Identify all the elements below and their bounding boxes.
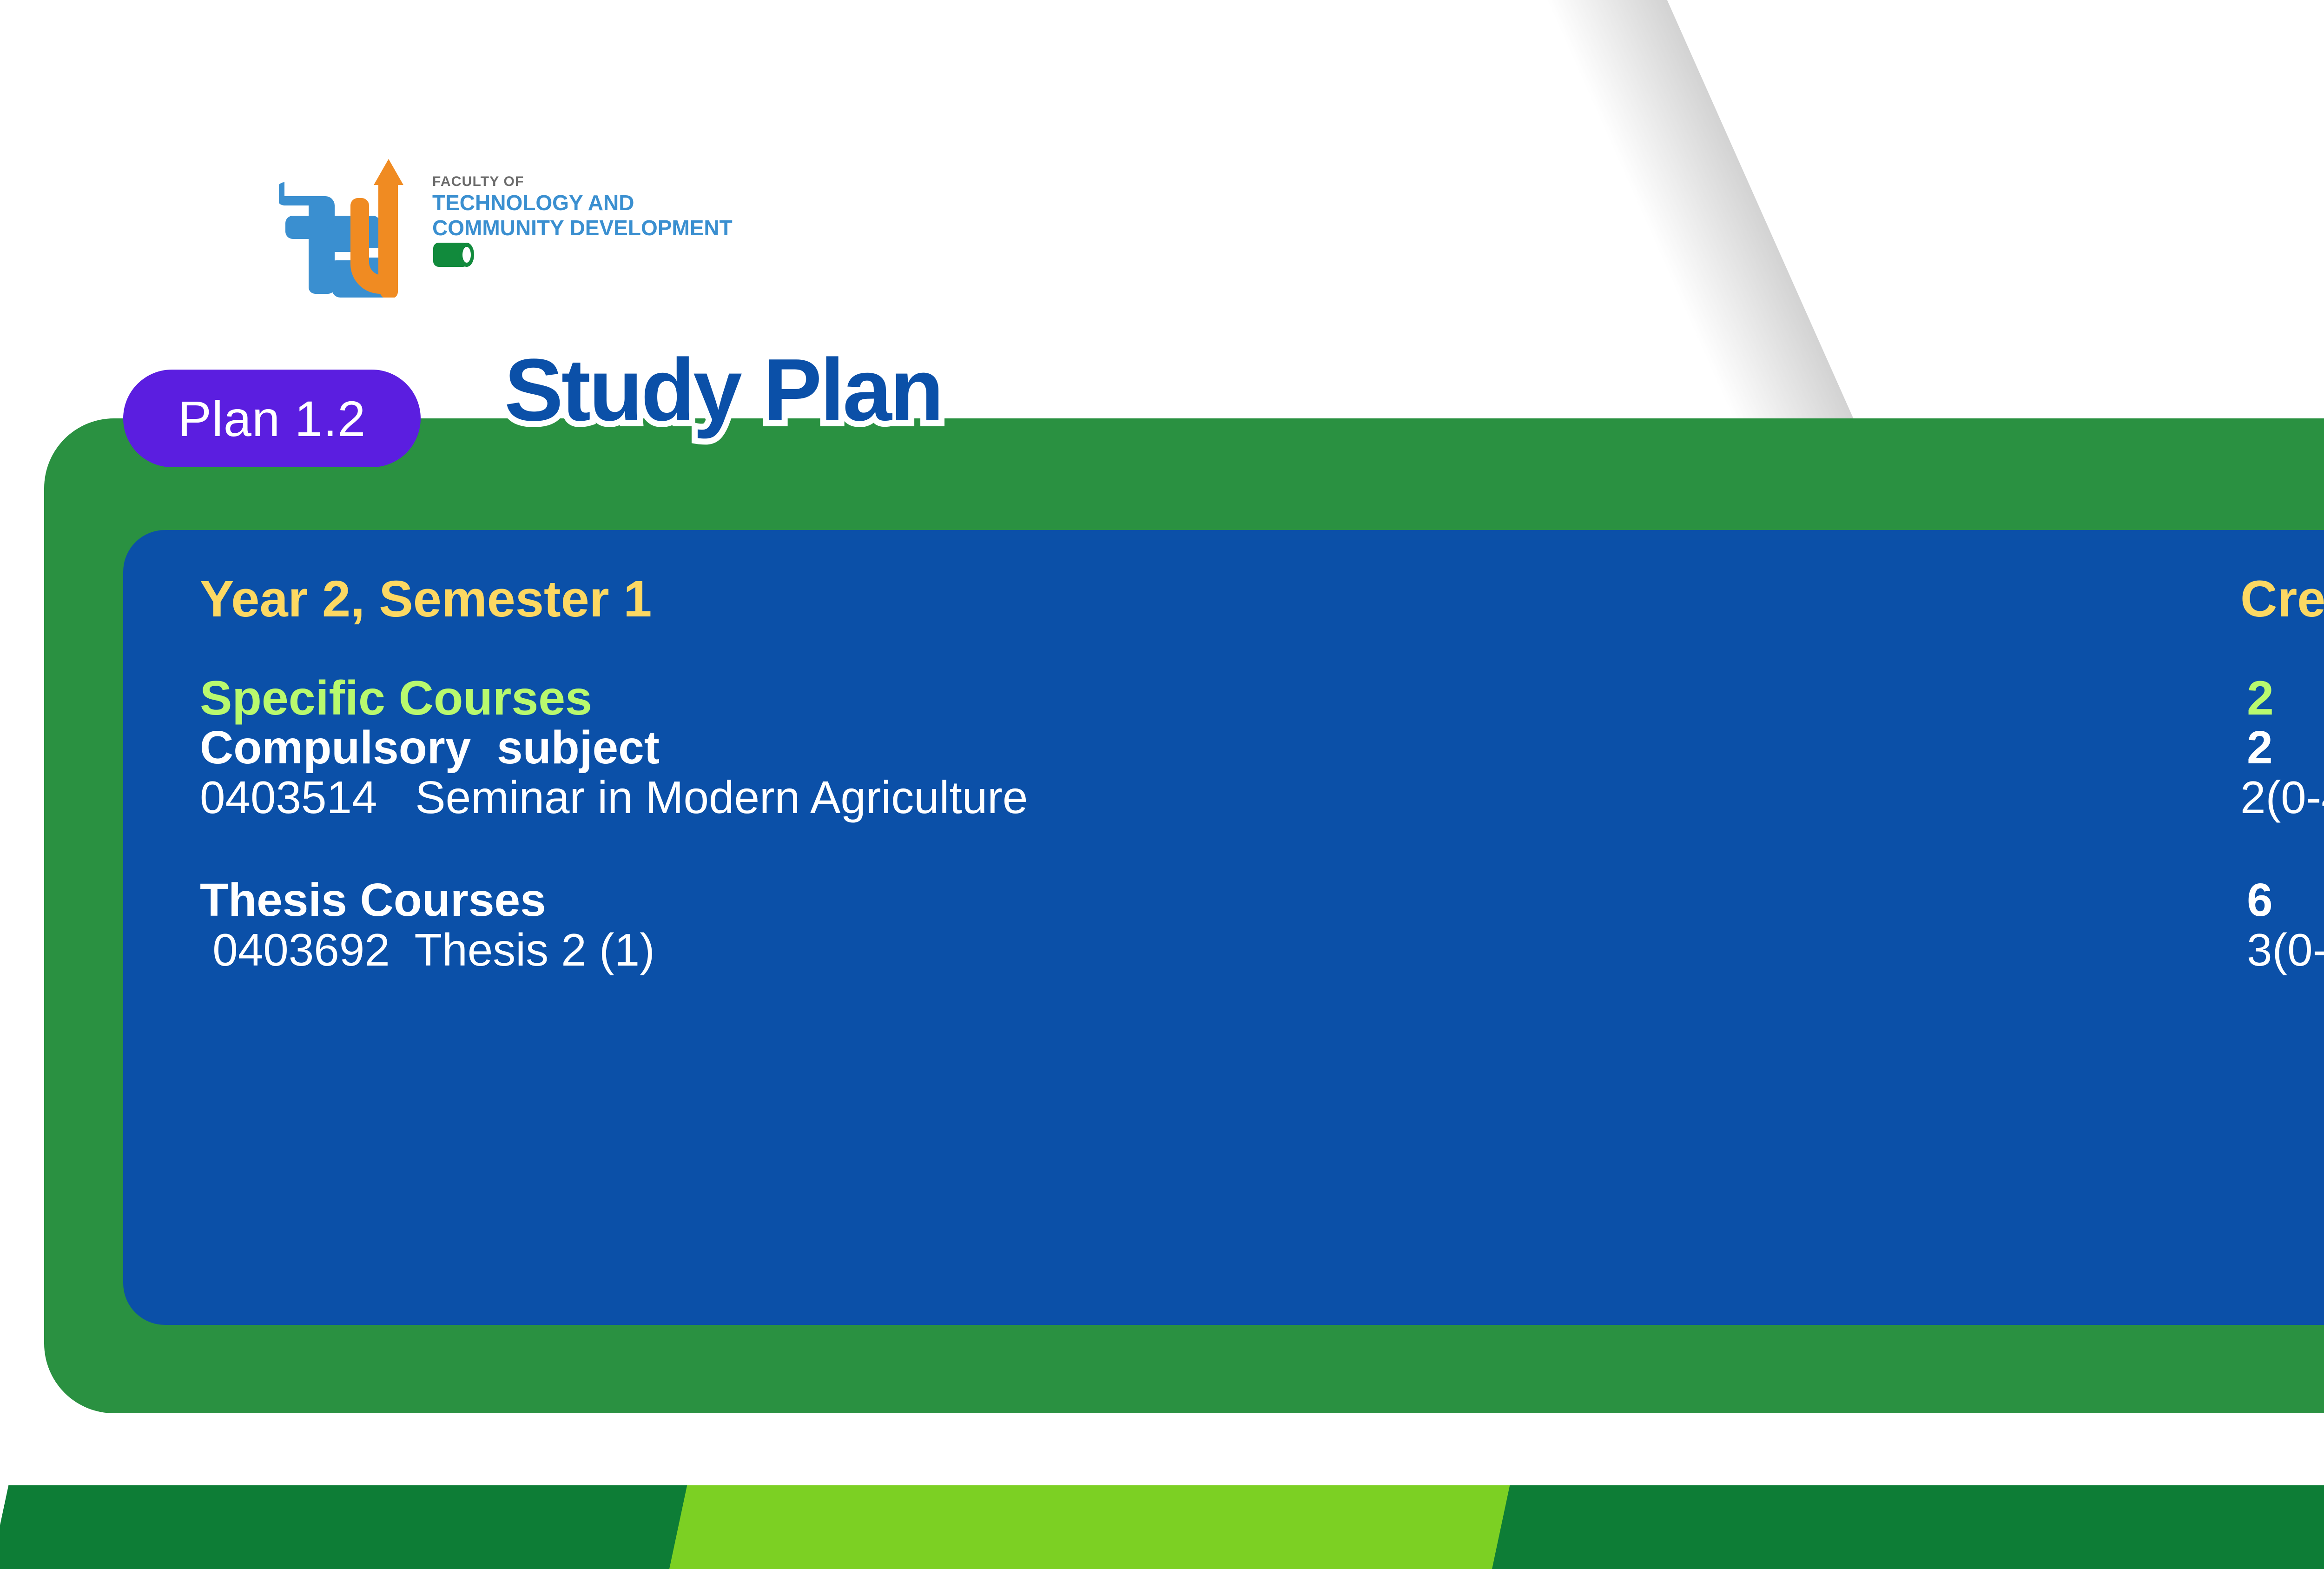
subsection-label: Compulsory subject [200, 722, 660, 774]
course-credits: 3(0-16-0) [2247, 924, 2324, 975]
course-credits: 2(0-4-2) [2240, 772, 2324, 823]
category-label: Specific Courses [200, 671, 592, 725]
category-credits: 2 [2247, 671, 2274, 725]
footer-band-light [669, 1485, 1561, 1569]
page-title: Study Plan [504, 339, 942, 441]
section-spacer [200, 823, 2324, 874]
subsection-credits: 2 [2247, 722, 2273, 774]
logo-cylinder-icon [433, 243, 474, 267]
plan-badge[interactable]: Plan 1.2 [123, 370, 421, 467]
category-credits: 6 [2247, 874, 2273, 926]
credits-heading: Credits [2240, 570, 2324, 628]
semester-heading: Year 2, Semester 1 [200, 570, 652, 628]
table-row: Compulsory subject 2 [200, 721, 2324, 771]
table-header-row: Year 2, Semester 1 Credits [200, 569, 2324, 649]
plan-badge-label: Plan 1.2 [178, 390, 366, 448]
table-row: Thesis Courses 6 [200, 874, 2324, 924]
footer-band-dark-left [0, 1485, 733, 1569]
logo-name-line-1: TECHNOLOGY AND [432, 191, 634, 215]
course-label: 0403692 Thesis 2 (1) [200, 924, 655, 975]
logo-faculty-line: FACULTY OF [432, 174, 524, 189]
row-spacer [200, 649, 2324, 671]
table-row: 0403514 Seminar in Modern Agriculture 2(… [200, 771, 2324, 823]
logo-name-line-2: COMMUNITY DEVELOPMENT [432, 216, 733, 240]
table-row: 0403692 Thesis 2 (1) 3(0-16-0) [200, 924, 2324, 976]
course-label: 0403514 Seminar in Modern Agriculture [200, 772, 1028, 823]
tsu-faculty-logo: FACULTY OF TECHNOLOGY AND COMMUNITY DEVE… [279, 158, 1069, 298]
category-label: Thesis Courses [200, 874, 546, 926]
study-plan-table: Year 2, Semester 1 Credits Specific Cour… [200, 569, 2324, 976]
logo-mark-tsu-icon [279, 159, 403, 298]
footer-band-dark-right [1492, 1485, 2324, 1569]
table-row: Specific Courses 2 [200, 671, 2324, 721]
